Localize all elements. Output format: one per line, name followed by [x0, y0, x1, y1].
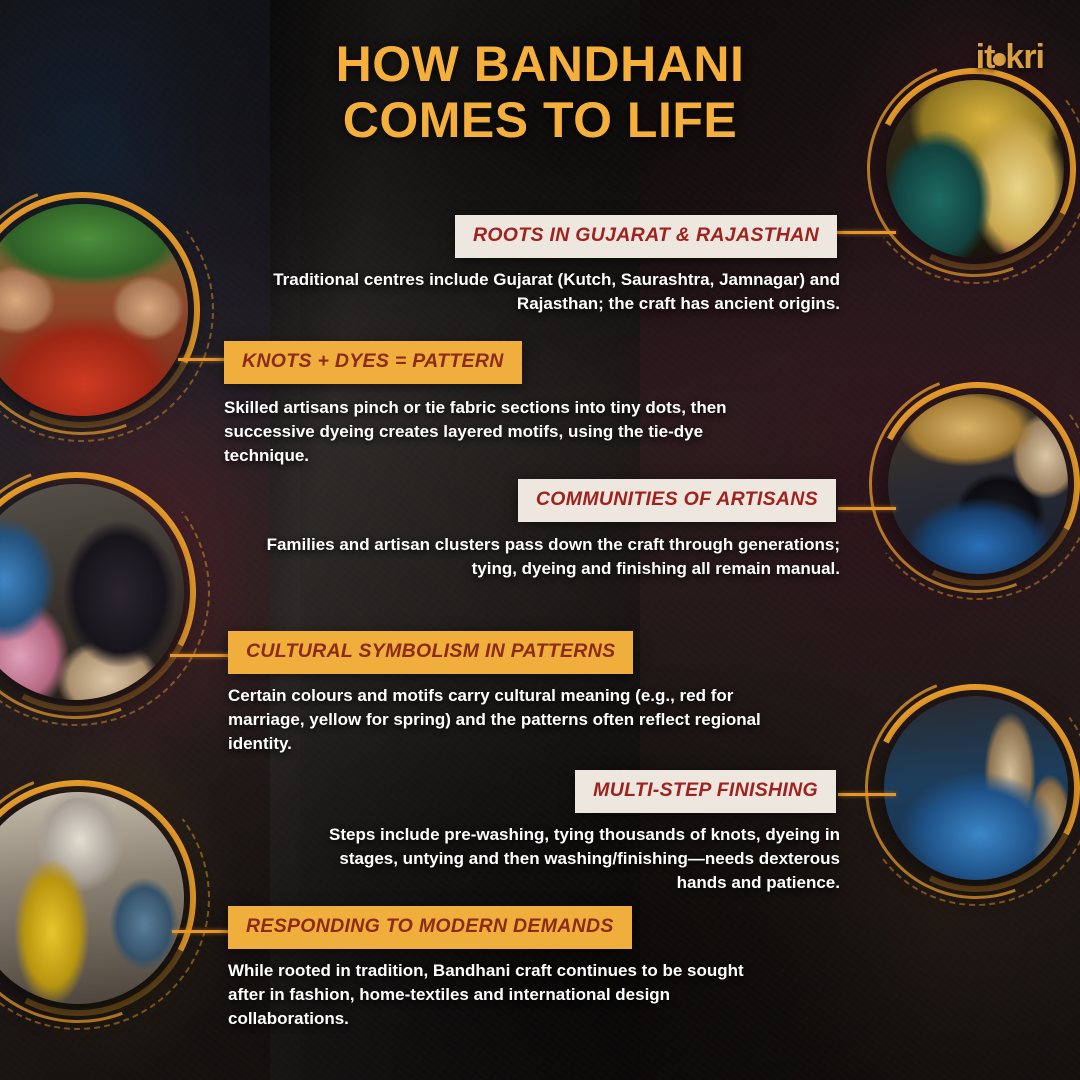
section-body-cultural-symbolism-in-patterns: Certain colours and motifs carry cultura… [228, 684, 768, 756]
photo-image-5 [884, 696, 1068, 880]
section-heading-cultural-symbolism-in-patterns: CULTURAL SYMBOLISM IN PATTERNS [228, 631, 633, 674]
section-heading-knots-dyes-pattern: KNOTS + DYES = PATTERN [224, 341, 522, 384]
section-body-roots-in-gujarat-rajasthan: Traditional centres include Gujarat (Kut… [240, 268, 840, 316]
photo-circle-woman-tying-cream-fabric [0, 472, 196, 712]
connector-line-3 [838, 507, 896, 510]
photo-circle-indigo-vat-yellow-fabric [872, 684, 1080, 892]
photo-image-2 [0, 204, 188, 416]
page-title: HOW BANDHANI COMES TO LIFE [0, 36, 1080, 148]
page-title-line-1: HOW BANDHANI [336, 36, 745, 92]
itokri-logo[interactable]: itkri [976, 38, 1044, 77]
section-body-communities-of-artisans: Families and artisan clusters pass down … [240, 533, 840, 581]
section-body-knots-dyes-pattern: Skilled artisans pinch or tie fabric sec… [224, 396, 754, 468]
section-body-multi-step-finishing: Steps include pre-washing, tying thousan… [320, 823, 840, 895]
photo-image-3 [888, 394, 1068, 574]
section-heading-communities-of-artisans: COMMUNITIES OF ARTISANS [518, 479, 836, 522]
photo-circle-hands-tying-red-fabric [0, 192, 200, 428]
section-heading-responding-to-modern-demands: RESPONDING TO MODERN DEMANDS [228, 906, 632, 949]
connector-line-4 [170, 654, 232, 657]
section-heading-roots-in-gujarat-rajasthan: ROOTS IN GUJARAT & RAJASTHAN [455, 215, 837, 258]
photo-image-4 [0, 484, 184, 700]
section-heading-multi-step-finishing: MULTI-STEP FINISHING [575, 770, 836, 813]
page-title-line-2: COMES TO LIFE [0, 92, 1080, 148]
photo-circle-artisan-yellow-fabric [0, 780, 196, 1016]
photo-circle-artisan-blue-dye-vat [876, 382, 1080, 586]
connector-line-5 [838, 793, 896, 796]
connector-line-1 [836, 231, 896, 234]
photo-image-6 [0, 792, 184, 1004]
logo-text-before: it [976, 38, 995, 76]
logo-text-after: kri [1005, 38, 1044, 76]
section-body-responding-to-modern-demands: While rooted in tradition, Bandhani craf… [228, 959, 778, 1031]
connector-line-6 [172, 930, 232, 933]
